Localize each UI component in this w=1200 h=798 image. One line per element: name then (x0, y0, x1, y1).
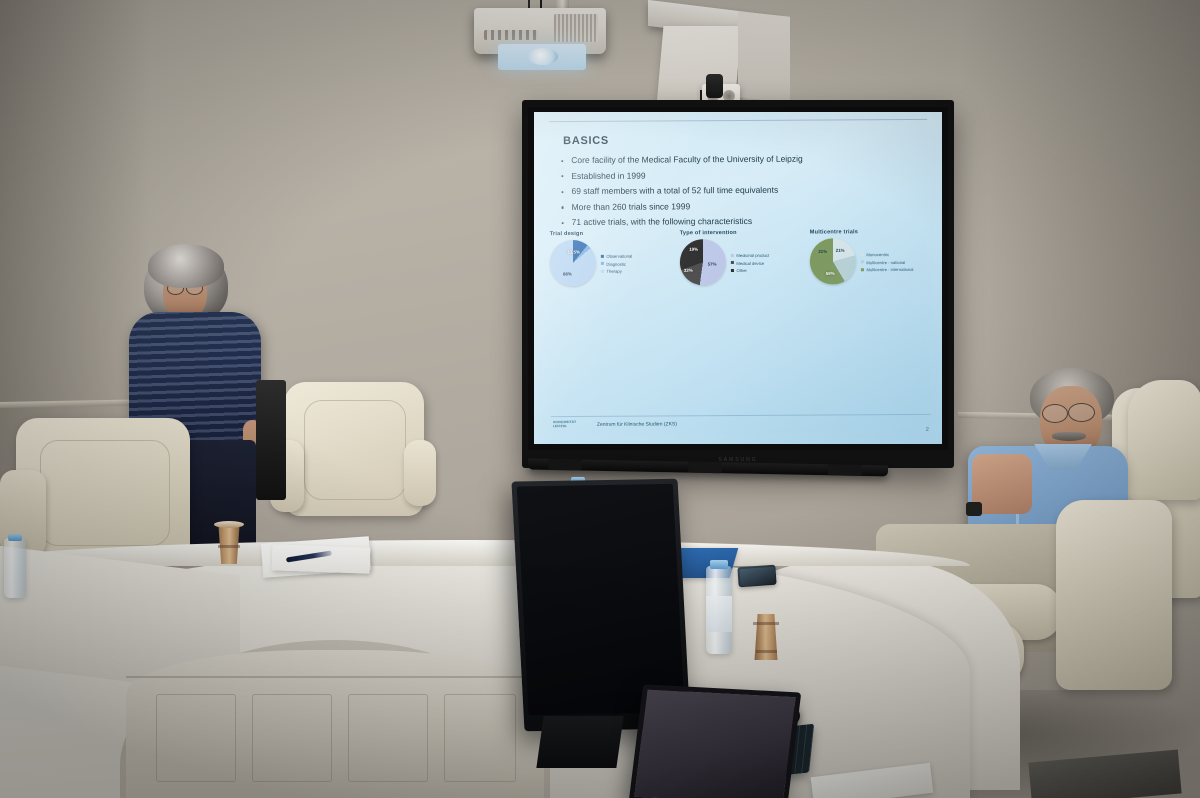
coffee-cup-band (218, 545, 240, 548)
chair-left-2-backrest-shadow (256, 380, 286, 500)
slide-charts-row: Trial design 11.5% 86% Observational Dia… (550, 229, 932, 286)
pie-slice-label: 33% (684, 268, 693, 273)
projector-ports (484, 30, 538, 40)
display-screen[interactable]: BASICS Core facility of the Medical Facu… (534, 112, 942, 444)
phone-screen[interactable] (739, 566, 775, 585)
conference-room-scene: BASICS Core facility of the Medical Facu… (0, 0, 1200, 798)
legend-swatch (861, 261, 864, 264)
legend-item: Other (731, 268, 769, 273)
legend-swatch (861, 268, 864, 271)
legend-item: Medicinal product (731, 253, 769, 258)
presenter-hair-top (148, 244, 224, 288)
legend-item: Observational (601, 254, 632, 259)
legend-label: Observational (606, 254, 632, 259)
legend-swatch (601, 262, 604, 265)
projector-vent (554, 14, 598, 42)
legend-item: Therapy (601, 269, 632, 274)
monitor-screen[interactable] (517, 484, 685, 715)
legend-label: Multicentre - national (866, 259, 905, 264)
water-bottle-far-left-cap (8, 534, 22, 541)
logo-line-2: LEIPZIG (553, 425, 577, 429)
pie-slice-label: 59% (826, 271, 835, 276)
water-bottle-front-label (706, 596, 732, 632)
chart-legend: Medicinal product Medical device Other (731, 251, 769, 273)
legend-label: Medicinal product (736, 253, 769, 258)
pie-slice-label: 21% (836, 248, 845, 253)
table-front-panel (126, 650, 544, 798)
legend-swatch (861, 253, 864, 256)
legend-swatch (601, 255, 604, 258)
slide-bullet-list: Core facility of the Medical Faculty of … (555, 152, 925, 230)
legend-swatch (731, 261, 734, 264)
pie-slice-label: 11.5% (568, 249, 580, 254)
legend-item: Diagnostic (601, 261, 632, 266)
legend-label: Diagnostic (606, 261, 626, 266)
legend-swatch (731, 269, 734, 272)
attendee-glasses (1068, 403, 1095, 422)
slide-bullet: Core facility of the Medical Faculty of … (555, 152, 925, 168)
chart-title: Multicentre trials (810, 229, 932, 236)
slide-top-rule (549, 119, 927, 122)
chart-multicentre-trials: Multicentre trials 21% 21% 59% Monocentr… (810, 229, 932, 285)
slide-bullet: 71 active trials, with the following cha… (556, 214, 926, 230)
coffee-cup-center-band-2 (756, 650, 777, 653)
legend-label: Multicentre - international (866, 267, 913, 272)
pie-slice-label: 57% (708, 262, 717, 267)
pie-slice-label: 86% (563, 272, 572, 277)
water-bottle-far-left[interactable] (4, 538, 26, 598)
chart-trial-design: Trial design 11.5% 86% Observational Dia… (550, 230, 672, 286)
smartphone[interactable] (737, 565, 776, 588)
coffee-cup-lid (214, 521, 244, 528)
chart-title: Type of intervention (680, 230, 802, 237)
legend-item: Medical device (731, 260, 769, 265)
university-logo: UNIVERSITÄT LEIPZIG (553, 421, 577, 432)
legend-item: Multicentre - national (861, 259, 914, 264)
attendee-glasses (1042, 404, 1068, 423)
pie-chart: 21% 21% 59% (810, 238, 856, 284)
legend-label: Medical device (736, 260, 764, 265)
pie-chart: 11.5% 86% (550, 240, 596, 286)
attendee-watch (966, 502, 982, 516)
legend-swatch (731, 254, 734, 257)
slide-page-number: 2 (926, 427, 929, 433)
legend-item: Monocentric (861, 252, 914, 257)
legend-label: Other (736, 268, 747, 273)
chart-legend: Monocentric Multicentre - national Multi… (861, 250, 914, 272)
pie-slice-label: 19% (689, 247, 698, 252)
coffee-cup-center-band (753, 622, 779, 625)
monitor-stand (536, 716, 623, 768)
legend-item: Multicentre - international (861, 267, 914, 272)
legend-label: Monocentric (866, 252, 889, 257)
pie-slice-label: 21% (818, 249, 827, 254)
slide-bullet: More than 260 trials since 1999 (556, 199, 926, 215)
legend-label: Therapy (606, 269, 621, 274)
slide-footer: UNIVERSITÄT LEIPZIG Zentrum für Klinisch… (551, 414, 931, 437)
slide-title: BASICS (563, 133, 925, 147)
laptop[interactable] (629, 684, 802, 798)
attendee-moustache (1052, 432, 1086, 441)
wall-display[interactable]: BASICS Core facility of the Medical Facu… (522, 100, 954, 468)
footer-text: Zentrum für Klinische Studien (ZKS) (597, 421, 677, 427)
pie-chart: 57% 19% 33% (680, 239, 726, 285)
slide-bullet: 69 staff members with a total of 52 full… (555, 183, 925, 199)
slide-bullet: Established in 1999 (555, 167, 925, 183)
presentation-slide: BASICS Core facility of the Medical Facu… (534, 112, 942, 444)
chart-type-of-intervention: Type of intervention 57% 19% 33% Medicin… (680, 230, 802, 286)
projector-lens (528, 48, 558, 65)
water-bottle-front-cap (710, 560, 728, 569)
chart-legend: Observational Diagnostic Therapy (601, 252, 632, 274)
legend-swatch (601, 270, 604, 273)
chart-title: Trial design (550, 230, 672, 237)
wall-mount-plate-secondary (738, 11, 790, 102)
